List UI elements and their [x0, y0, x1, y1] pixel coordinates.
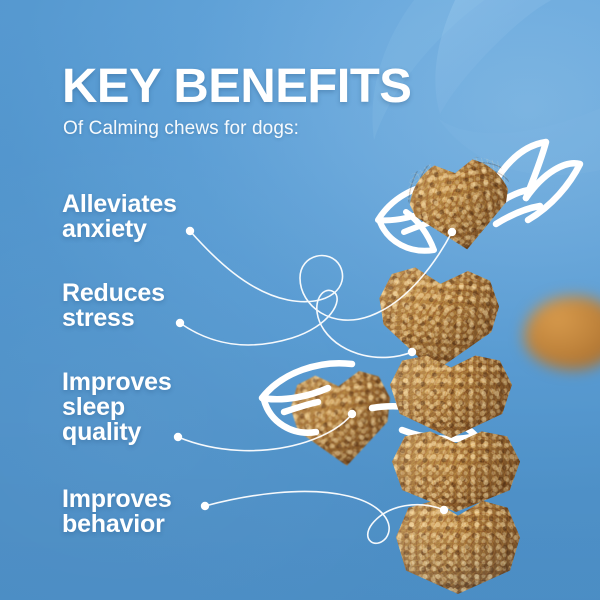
- benefit-item-alleviates-anxiety: Alleviates anxiety: [62, 192, 177, 242]
- treat-flying-left: [287, 367, 396, 471]
- benefit-item-improves-sleep: Improves sleep quality: [62, 370, 172, 445]
- key-benefits-promo-image: KEY BENEFITS Of Calming chews for dogs: …: [0, 0, 600, 600]
- benefit-item-improves-behavior: Improves behavior: [62, 487, 172, 537]
- treat-flying-top: [401, 150, 518, 257]
- page-subtitle: Of Calming chews for dogs:: [63, 118, 299, 140]
- treat-stack-second: [390, 352, 512, 438]
- treat-stack-bottom: [396, 496, 520, 594]
- benefit-item-reduces-stress: Reduces stress: [62, 281, 165, 331]
- page-title: KEY BENEFITS: [62, 63, 411, 111]
